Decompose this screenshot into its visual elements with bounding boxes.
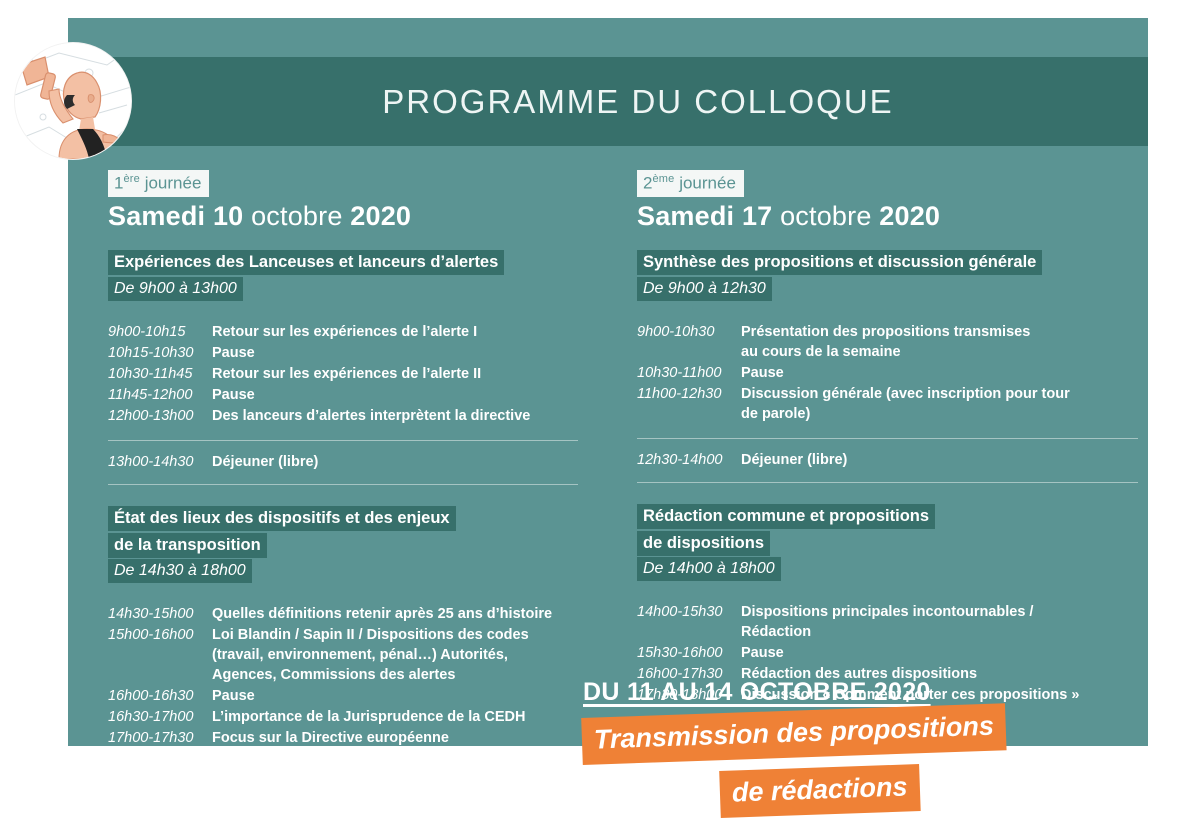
session-block-afternoon-2: Rédaction commune et propositions de dis… — [637, 503, 1138, 582]
schedule-desc: Dispositions principales incontournables… — [741, 602, 1033, 642]
session-title: Expériences des Lanceuses et lanceurs d’… — [108, 249, 578, 276]
session-time: De 9h00 à 12h30 — [637, 276, 1138, 302]
day-column-2: 2ème journée Samedi 17 octobre 2020 Synt… — [588, 170, 1148, 746]
callout-ribbon-line1: Transmission des propositions — [581, 703, 1006, 765]
day-badge-word: journée — [145, 174, 202, 193]
schedule-time: 12h30-14h00 — [637, 450, 741, 470]
session-title: Rédaction commune et propositions — [637, 503, 1138, 530]
schedule-row: 9h00-10h15 Retour sur les expériences de… — [108, 322, 578, 342]
session-block-afternoon-1: État des lieux des dispositifs et des en… — [108, 505, 578, 584]
schedule-desc: Pause — [212, 385, 255, 405]
schedule-row: 10h15-10h30 Pause — [108, 343, 578, 363]
day-badge-2: 2ème journée — [637, 170, 744, 197]
lunch-row-1: 13h00-14h30 Déjeuner (libre) — [108, 440, 578, 485]
schedule-desc: Présentation des propositions transmises… — [741, 322, 1030, 362]
session-title: État des lieux des dispositifs et des en… — [108, 505, 578, 532]
schedule-time: 16h30-17h00 — [108, 707, 212, 727]
schedule-row: 13h00-14h30 Déjeuner (libre) — [108, 452, 578, 472]
schedule-desc: Retour sur les expériences de l’alerte I — [212, 322, 477, 342]
day-badge-1: 1ère journée — [108, 170, 209, 197]
schedule-time: 13h00-14h30 — [108, 452, 212, 472]
schedule-afternoon-1: 14h30-15h00 Quelles définitions retenir … — [108, 604, 578, 769]
schedule-row: 11h00-12h30 Discussion générale (avec in… — [637, 384, 1138, 424]
schedule-desc: Pause — [741, 363, 784, 383]
schedule-time: 11h45-12h00 — [108, 385, 212, 405]
schedule-time: 15h30-16h00 — [637, 643, 741, 663]
day-title-month: octobre — [772, 201, 879, 231]
schedule-desc: L’importance de la Jurisprudence de la C… — [212, 707, 525, 727]
day-badge-word: journée — [679, 174, 736, 193]
schedule-desc: Quelles définitions retenir après 25 ans… — [212, 604, 552, 624]
schedule-desc: Pause — [212, 686, 255, 706]
schedule-desc: Focus sur la Directive européenne — [212, 728, 449, 748]
callout-date: DU 11 AU 14 OCTOBRE 2020 — [583, 678, 931, 707]
schedule-row: 14h30-15h00 Quelles définitions retenir … — [108, 604, 578, 624]
schedule-row: 10h30-11h45 Retour sur les expériences d… — [108, 364, 578, 384]
schedule-row: 11h45-12h00 Pause — [108, 385, 578, 405]
session-time: De 14h30 à 18h00 — [108, 558, 578, 584]
day-badge-ordinal: ème — [652, 173, 674, 185]
schedule-desc: Déjeuner (libre) — [741, 450, 847, 470]
schedule-desc: Retour sur les expériences de l’alerte I… — [212, 364, 481, 384]
schedule-time: 14h30-15h00 — [108, 604, 212, 624]
schedule-row: 12h30-14h00 Déjeuner (libre) — [637, 450, 1138, 470]
whistleblower-megaphone-icon — [15, 43, 131, 159]
day-title-bold: Samedi 10 — [108, 201, 243, 231]
session-block-morning-2: Synthèse des propositions et discussion … — [637, 249, 1138, 302]
day-title-month: octobre — [243, 201, 350, 231]
schedule-row: 15h00-16h00 Loi Blandin / Sapin II / Dis… — [108, 625, 578, 685]
day-badge-ordinal: ère — [123, 173, 140, 185]
schedule-time: 17h30-18h00 — [108, 749, 212, 769]
schedule-time: 15h00-16h00 — [108, 625, 212, 645]
schedule-desc: Déjeuner (libre) — [212, 452, 318, 472]
schedule-time: 10h15-10h30 — [108, 343, 212, 363]
session-title-cont: de dispositions — [637, 530, 1138, 557]
page-title: PROGRAMME DU COLLOQUE — [322, 83, 893, 121]
schedule-desc: Quel dispositif pour traiter l’alerte ? — [212, 749, 458, 769]
session-time: De 9h00 à 13h00 — [108, 276, 578, 302]
schedule-time: 16h00-16h30 — [108, 686, 212, 706]
schedule-row: 16h30-17h00 L’importance de la Jurisprud… — [108, 707, 578, 727]
day-title-bold: Samedi 17 — [637, 201, 772, 231]
schedule-time: 9h00-10h15 — [108, 322, 212, 342]
callout-ribbon-line2: de rédactions — [719, 764, 920, 818]
schedule-row: 17h30-18h00 Quel dispositif pour traiter… — [108, 749, 578, 769]
schedule-row: 9h00-10h30 Présentation des propositions… — [637, 322, 1138, 362]
schedule-desc: Pause — [212, 343, 255, 363]
schedule-row: 16h00-16h30 Pause — [108, 686, 578, 706]
schedule-desc: Des lanceurs d’alertes interprètent la d… — [212, 406, 530, 426]
schedule-row: 17h00-17h30 Focus sur la Directive europ… — [108, 728, 578, 748]
program-columns: 1ère journée Samedi 10 octobre 2020 Expé… — [68, 170, 1148, 746]
schedule-desc: Discussion générale (avec inscription po… — [741, 384, 1070, 424]
transmission-callout: DU 11 AU 14 OCTOBRE 2020 Transmission de… — [580, 678, 1140, 822]
schedule-time: 10h30-11h45 — [108, 364, 212, 384]
schedule-desc: Loi Blandin / Sapin II / Dispositions de… — [212, 625, 529, 685]
schedule-time: 12h00-13h00 — [108, 406, 212, 426]
day-title-year: 2020 — [350, 201, 411, 231]
schedule-time: 11h00-12h30 — [637, 384, 741, 404]
schedule-row: 15h30-16h00 Pause — [637, 643, 1138, 663]
poster-root: PROGRAMME DU COLLOQUE — [0, 0, 1193, 822]
schedule-row: 14h00-15h30 Dispositions principales inc… — [637, 602, 1138, 642]
schedule-time: 9h00-10h30 — [637, 322, 741, 342]
schedule-time: 14h00-15h30 — [637, 602, 741, 622]
header-band: PROGRAMME DU COLLOQUE — [68, 57, 1148, 146]
lunch-row-2: 12h30-14h00 Déjeuner (libre) — [637, 438, 1138, 483]
day-title-year: 2020 — [879, 201, 940, 231]
session-title-cont: de la transposition — [108, 532, 578, 559]
schedule-time: 17h00-17h30 — [108, 728, 212, 748]
schedule-desc: Pause — [741, 643, 784, 663]
session-block-morning-1: Expériences des Lanceuses et lanceurs d’… — [108, 249, 578, 302]
schedule-time: 10h30-11h00 — [637, 363, 741, 383]
day-title-2: Samedi 17 octobre 2020 — [637, 202, 1138, 232]
schedule-morning-1: 9h00-10h15 Retour sur les expériences de… — [108, 322, 578, 426]
session-time: De 14h00 à 18h00 — [637, 556, 1138, 582]
schedule-morning-2: 9h00-10h30 Présentation des propositions… — [637, 322, 1138, 424]
day-column-1: 1ère journée Samedi 10 octobre 2020 Expé… — [68, 170, 588, 746]
session-title: Synthèse des propositions et discussion … — [637, 249, 1138, 276]
day-title-1: Samedi 10 octobre 2020 — [108, 202, 578, 232]
schedule-row: 10h30-11h00 Pause — [637, 363, 1138, 383]
schedule-row: 12h00-13h00 Des lanceurs d’alertes inter… — [108, 406, 578, 426]
